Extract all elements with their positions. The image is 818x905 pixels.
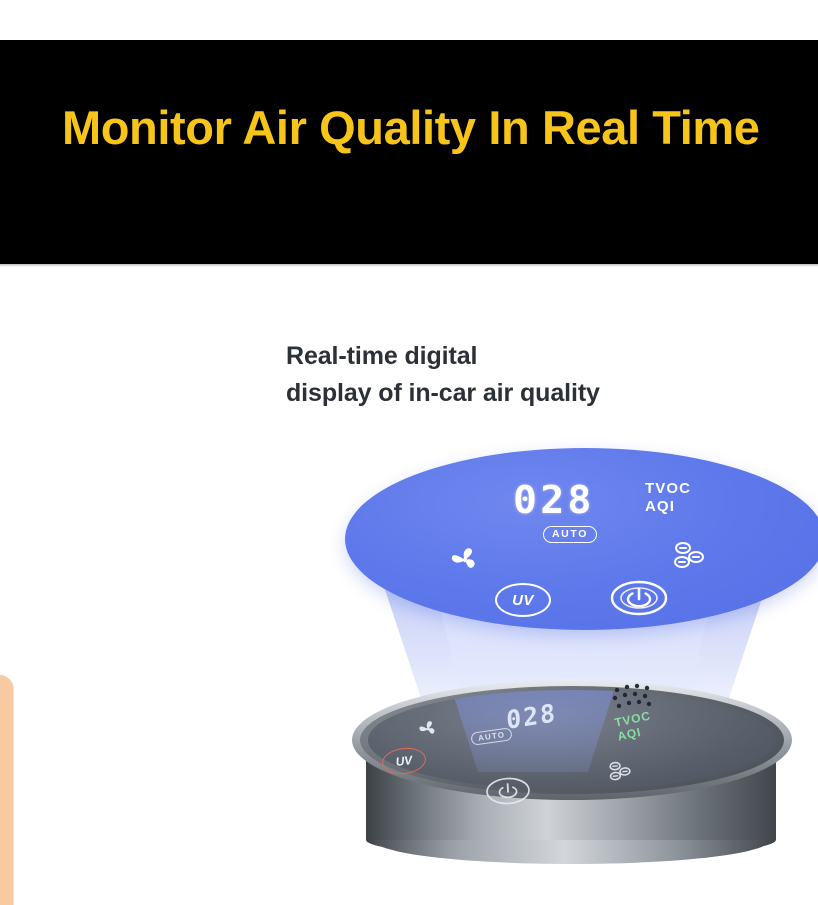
air-purifier-device[interactable]: 028 TVOC AQI AUTO — [338, 680, 808, 865]
side-card-orange[interactable] — [0, 675, 14, 905]
sensor-grille-icon — [603, 682, 661, 714]
aqi-reading: 028 — [513, 478, 595, 522]
auto-mode-badge: AUTO — [543, 526, 597, 543]
device-fan-icon[interactable] — [413, 717, 443, 742]
power-button[interactable] — [610, 580, 668, 616]
device-base — [374, 840, 770, 864]
uv-button[interactable]: UV — [495, 583, 551, 617]
unit-aqi: AQI — [645, 498, 691, 516]
feature-caption: Real-time digital display of in-car air … — [286, 338, 776, 411]
device-power-button[interactable] — [484, 776, 531, 806]
unit-tvoc: TVOC — [645, 480, 691, 498]
aqi-unit-label: TVOC AQI — [645, 480, 691, 515]
page-title: Monitor Air Quality In Real Time — [62, 92, 770, 163]
caption-line-1: Real-time digital — [286, 342, 477, 370]
top-gutter — [0, 0, 818, 40]
ionizer-icon[interactable] — [670, 540, 708, 574]
caption-line-2: display of in-car air quality — [286, 375, 776, 412]
product-illustration: 028 TVOC AQI AUTO — [330, 440, 818, 865]
device-glass-top[interactable] — [368, 690, 776, 790]
control-panel[interactable]: 028 TVOC AQI AUTO — [345, 448, 818, 630]
page-root: Monitor Air Quality In Real Time Real-ti… — [0, 0, 818, 905]
fan-icon[interactable] — [445, 543, 485, 577]
device-ionizer-icon[interactable] — [605, 759, 635, 786]
hero-banner: Monitor Air Quality In Real Time — [0, 40, 818, 264]
